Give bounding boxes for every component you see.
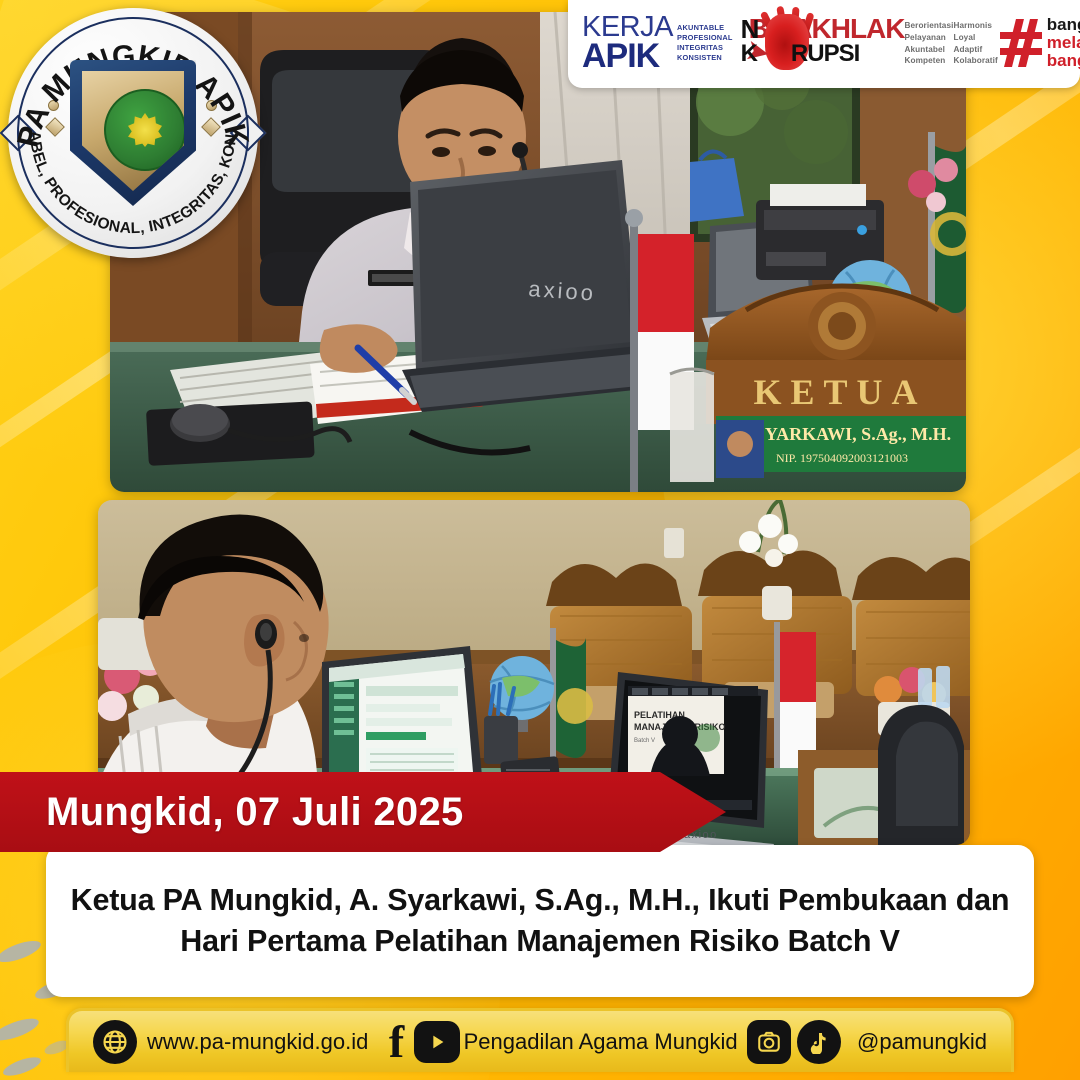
logo-banner: KERJA APIK AKUNTABLE PROFESIONAL INTEGRI… bbox=[568, 0, 1080, 88]
footer-social-group[interactable]: f Pengadilan Agama Mungkid bbox=[382, 1020, 738, 1064]
decor-dash bbox=[0, 937, 43, 967]
kerja-line2: APIK bbox=[582, 41, 673, 72]
badge-dot-right bbox=[206, 100, 217, 111]
decor-dash bbox=[0, 1014, 41, 1045]
handle-label: @pamungkid bbox=[857, 1029, 987, 1055]
facebook-icon[interactable]: f bbox=[382, 1020, 412, 1064]
footer-website-group[interactable]: www.pa-mungkid.go.id bbox=[93, 1020, 368, 1064]
laptop-brand-top: axioo bbox=[528, 276, 597, 306]
bangga-line2: melayani bbox=[1047, 34, 1080, 52]
date-text: Mungkid, 07 Juli 2025 bbox=[0, 790, 464, 835]
badge-shield-inner bbox=[82, 71, 184, 191]
bangga-line3: bangsa bbox=[1047, 52, 1080, 70]
kerja-value-3: KONSISTEN bbox=[677, 53, 733, 63]
poster-canvas: axioo bbox=[0, 0, 1080, 1080]
bangga-melayani-bangsa-logo: bangga melayani bangsa bbox=[1000, 16, 1080, 70]
svg-text:Batch V: Batch V bbox=[634, 738, 655, 744]
website-label: www.pa-mungkid.go.id bbox=[147, 1029, 368, 1055]
globe-icon bbox=[93, 1020, 137, 1064]
kerja-apik-logo: KERJA APIK AKUNTABLE PROFESIONAL INTEGRI… bbox=[582, 14, 733, 72]
berakhlak-subline1: Berorientasi Pelayanan Akuntabel Kompete… bbox=[905, 20, 954, 68]
date-ribbon: Mungkid, 07 Juli 2025 bbox=[0, 772, 726, 852]
caption-text: Ketua PA Mungkid, A. Syarkawi, S.Ag., M.… bbox=[64, 880, 1016, 961]
nameplate-nip-text: NIP. 197504092003121003 bbox=[776, 451, 908, 465]
berakhlak-subline2: Harmonis Loyal Adaptif Kolaboratif bbox=[953, 20, 997, 68]
tiktok-icon[interactable] bbox=[797, 1020, 841, 1064]
footer-handle-group[interactable]: @pamungkid bbox=[747, 1020, 987, 1064]
badge-dot-left bbox=[48, 100, 59, 111]
nokorupsi-line1: N bbox=[741, 16, 759, 42]
caption-card: Ketua PA Mungkid, A. Syarkawi, S.Ag., M.… bbox=[46, 845, 1034, 997]
institution-badge: PA MUNGKID APIK AKUNTABEL, PROFESIONAL, … bbox=[8, 8, 258, 258]
footer-bar: www.pa-mungkid.go.id f Pengadilan Agama … bbox=[66, 1008, 1014, 1072]
instagram-icon[interactable] bbox=[747, 1020, 791, 1064]
nameplate-name-text: A. SYARKAWI, S.Ag., M.H. bbox=[733, 424, 951, 444]
nameplate-title-text: KETUA bbox=[753, 372, 926, 412]
kerja-value-0: AKUNTABLE bbox=[677, 23, 733, 33]
court-emblem-icon bbox=[104, 89, 186, 171]
kerja-value-1: PROFESIONAL bbox=[677, 33, 733, 43]
hashtag-icon bbox=[1000, 19, 1042, 67]
kerja-values: AKUNTABLE PROFESIONAL INTEGRITAS KONSIST… bbox=[677, 23, 733, 63]
nokorupsi-line2: KRUPSI bbox=[741, 42, 860, 66]
kerja-value-2: INTEGRITAS bbox=[677, 43, 733, 53]
bangga-line1: bangga bbox=[1047, 16, 1080, 34]
social-name-label: Pengadilan Agama Mungkid bbox=[464, 1029, 738, 1055]
decor-dash bbox=[1, 1054, 43, 1080]
youtube-icon[interactable] bbox=[414, 1021, 460, 1063]
